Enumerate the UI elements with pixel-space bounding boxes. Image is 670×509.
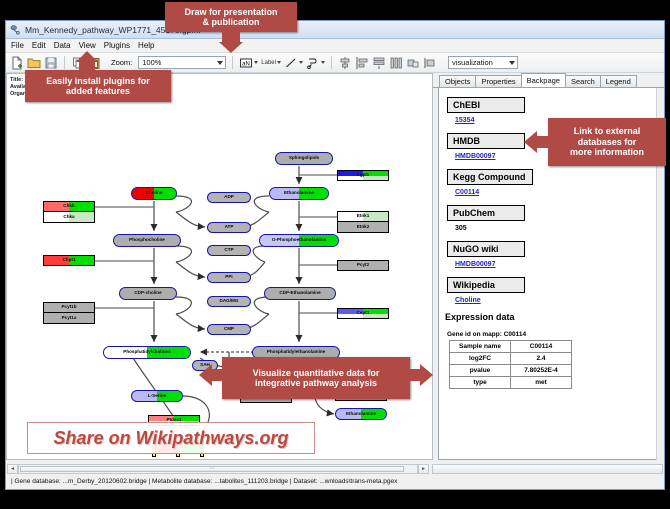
metabolite-node[interactable]: Choline <box>131 187 177 200</box>
tab-legend[interactable]: Legend <box>600 75 637 87</box>
horizontal-scrollbar[interactable]: ⋯ <box>18 464 418 474</box>
gene-id-line: Gene id on mapp: C00114 <box>447 331 661 338</box>
db-header: NuGO wiki <box>447 241 525 257</box>
db-section-nugo: NuGO wiki HMDB00097 <box>447 239 661 268</box>
callout-links: Link to external databases for more info… <box>548 118 666 166</box>
db-value: 305 <box>455 225 661 232</box>
side-panel-tabs: Objects Properties Backpage Search Legen… <box>433 73 664 88</box>
node-label: Phosphocholine <box>129 238 165 243</box>
order-icon[interactable] <box>423 56 437 70</box>
node-label: Sphingolipids <box>289 156 319 161</box>
line-tool[interactable] <box>284 56 303 70</box>
node-label: Phosphatidylethanolamine <box>267 350 325 355</box>
callout-visualize: Visualize quantitative data for integrat… <box>222 357 410 399</box>
expression-table: Sample name C00114 log2FC 2.4 pvalue 7.8… <box>449 340 572 389</box>
datanode-icon[interactable]: aN <box>239 56 253 70</box>
menu-bar: File Edit Data View Plugins Help <box>6 39 664 53</box>
align-center-icon[interactable] <box>338 56 352 70</box>
table-cell-value: met <box>511 377 572 389</box>
db-link[interactable]: Choline <box>455 297 661 304</box>
table-row: pvalue 7.80252E-4 <box>450 365 572 377</box>
gene-node[interactable]: Cept1 <box>337 308 389 319</box>
toolbar-separator-2 <box>232 56 233 69</box>
callout-plugins: Easily install plugins for added feature… <box>25 70 171 102</box>
gene-node[interactable]: Pcyt1b <box>43 302 95 313</box>
node-label: ADP <box>224 195 234 200</box>
node-label: Chpt1 <box>62 258 75 263</box>
node-label: Ethanolamine <box>346 412 376 417</box>
label-tool[interactable]: Label <box>261 60 281 66</box>
align-left-icon[interactable] <box>355 56 369 70</box>
callout-plugins-line2: added features <box>66 86 130 96</box>
chevron-down-icon[interactable] <box>254 61 258 64</box>
metabolite-node[interactable]: O-Phosphoethanolamine <box>259 234 339 247</box>
table-cell-key: log2FC <box>450 353 511 365</box>
node-label: DAG/MG <box>220 299 239 304</box>
callout-visualize-stem-left <box>212 369 224 381</box>
title-bar: Mm_Kennedy_pathway_WP1771_45176.gpml <box>6 21 664 39</box>
menu-item-view[interactable]: View <box>79 41 96 50</box>
gene-node[interactable]: Sgpl1 <box>337 170 389 181</box>
metabolite-node[interactable]: L-Serine <box>131 390 183 402</box>
menu-item-help[interactable]: Help <box>138 41 154 50</box>
new-file-icon[interactable] <box>10 56 24 70</box>
zoom-label: Zoom: <box>111 58 132 67</box>
metabolite-node[interactable]: ADP <box>207 192 251 203</box>
node-label: O-Phosphoethanolamine <box>272 238 326 243</box>
node-label: Pcyt1a <box>62 316 77 321</box>
chevron-down-icon[interactable] <box>299 61 303 64</box>
node-label: ATP <box>225 225 234 230</box>
chevron-down-icon <box>217 61 223 65</box>
node-label: CDP-Ethanolamine <box>279 291 320 296</box>
visualization-value: visualization <box>452 58 493 67</box>
pathway-canvas[interactable]: Title: Availa Organ <box>6 73 433 460</box>
menu-item-data[interactable]: Data <box>54 41 71 50</box>
callout-draw-arrow <box>219 42 243 53</box>
node-label: Ethanolamine <box>284 191 314 196</box>
save-icon[interactable] <box>44 56 58 70</box>
chevron-down-icon <box>509 61 515 65</box>
menu-item-plugins[interactable]: Plugins <box>104 41 130 50</box>
callout-visualize-stem-right <box>408 369 420 381</box>
tab-properties[interactable]: Properties <box>475 75 521 87</box>
table-cell-key: type <box>450 377 511 389</box>
metabolite-node[interactable]: ATP <box>207 222 251 233</box>
node-label: Choline <box>146 191 163 196</box>
metabolite-node[interactable]: Phosphocholine <box>113 234 181 247</box>
distribute-icon[interactable] <box>389 56 403 70</box>
tab-objects[interactable]: Objects <box>439 75 476 87</box>
node-label: CTP <box>224 248 233 253</box>
status-bar: | Gene database: ...m_Derby_20120602.bri… <box>7 475 663 488</box>
callout-visualize-arrow-left <box>199 364 212 386</box>
callout-share: Share on Wikipathways.org <box>27 422 315 454</box>
table-row: type met <box>450 377 572 389</box>
node-label: Phosphatidylcholines <box>123 350 170 355</box>
callout-plugins-line1: Easily install plugins for <box>46 76 150 86</box>
gene-node[interactable]: Chka <box>43 212 95 223</box>
callout-links-line2: databases for <box>578 137 637 147</box>
node-label: Sgpl1 <box>357 173 370 178</box>
callout-share-text: Share on Wikipathways.org <box>54 428 289 449</box>
metabolite-node[interactable]: DAG/MG <box>207 296 251 307</box>
gene-node[interactable]: Etnk2 <box>337 222 389 233</box>
table-cell-value: 7.80252E-4 <box>511 365 572 377</box>
menu-item-file[interactable]: File <box>11 41 24 50</box>
callout-draw-line1: Draw for presentation <box>184 7 277 17</box>
gene-node[interactable]: Pcyt2 <box>337 260 389 271</box>
metabolite-node[interactable]: PPi <box>207 272 251 283</box>
db-header: HMDB <box>447 133 525 149</box>
db-header: ChEBI <box>447 97 525 113</box>
side-panel-footer <box>432 464 663 474</box>
node-label: CDP-choline <box>134 291 161 296</box>
callout-plugins-arrow <box>76 51 98 62</box>
node-label: Pcyt2 <box>357 263 369 268</box>
node-label: L-Serine <box>148 394 166 399</box>
gene-node[interactable]: Etnk1 <box>337 211 389 222</box>
toolbar-separator-1 <box>64 56 65 69</box>
table-row: log2FC 2.4 <box>450 353 572 365</box>
db-header: Kegg Compound <box>447 169 533 185</box>
callout-links-arrow <box>524 131 537 153</box>
callout-visualize-line1: Visualize quantitative data for <box>253 368 380 378</box>
db-section-kegg: Kegg Compound C00114 <box>447 167 661 196</box>
callout-links-line1: Link to external <box>574 126 641 136</box>
metabolite-node[interactable]: Ethanolamine <box>269 187 329 200</box>
toolbar-separator-3 <box>331 56 332 69</box>
metabolite-node[interactable]: Ethanolamine <box>335 408 387 420</box>
db-header: Wikipedia <box>447 277 525 293</box>
gene-node[interactable]: Pcyt1a <box>43 313 95 324</box>
zoom-value: 100% <box>142 58 161 67</box>
metabolite-node[interactable]: CTP <box>207 245 251 256</box>
svg-text:aN: aN <box>242 61 250 67</box>
stack-vertical-icon[interactable] <box>372 56 386 70</box>
group-icon[interactable] <box>406 56 420 70</box>
visualization-combo[interactable]: visualization <box>448 56 518 69</box>
screenshot-root: Mm_Kennedy_pathway_WP1771_45176.gpml Fil… <box>0 0 670 509</box>
node-label: CMP <box>224 327 234 332</box>
metabolite-node[interactable]: Phosphatidylcholines <box>103 346 191 359</box>
db-link[interactable]: C00114 <box>455 189 661 196</box>
db-header: PubChem <box>447 205 525 221</box>
callout-draw-line2: & publication <box>203 17 260 27</box>
table-row: Sample name C00114 <box>450 341 572 353</box>
menu-item-edit[interactable]: Edit <box>32 41 46 50</box>
open-folder-icon[interactable] <box>27 56 41 70</box>
table-cell-key: pvalue <box>450 365 511 377</box>
callout-links-stem <box>536 136 550 148</box>
db-link[interactable]: HMDB00097 <box>455 261 661 268</box>
node-label: Chka <box>63 215 74 220</box>
callout-visualize-line2: integrative pathway analysis <box>255 378 377 388</box>
callout-draw-stem <box>222 32 240 42</box>
datanode-tool[interactable]: aN <box>239 56 258 70</box>
node-label: Etnk2 <box>357 225 370 230</box>
status-text: | Gene database: ...m_Derby_20120602.bri… <box>11 478 397 485</box>
label-tool-label: Label <box>261 60 276 66</box>
scroll-left-arrow[interactable]: ◄ <box>7 464 18 474</box>
scrollbar-row: ◄ ⋯ ► <box>7 463 663 474</box>
gene-node[interactable]: Chpt1 <box>43 255 95 266</box>
node-label: Pcyt1b <box>61 305 76 310</box>
anchor-tool[interactable] <box>306 56 325 70</box>
node-label: Chkb <box>63 204 74 209</box>
scroll-thumb[interactable]: ⋯ <box>20 466 404 472</box>
db-section-pubchem: PubChem 305 <box>447 203 661 232</box>
metabolite-node[interactable]: CDP-Ethanolamine <box>264 287 336 300</box>
node-label: Etnk1 <box>357 214 370 219</box>
db-section-wikipedia: Wikipedia Choline <box>447 275 661 304</box>
scroll-right-arrow[interactable]: ► <box>418 464 429 474</box>
callout-visualize-arrow-right <box>420 364 433 386</box>
tab-search[interactable]: Search <box>565 75 601 87</box>
metabolite-node[interactable]: Sphingolipids <box>275 152 333 165</box>
tab-backpage[interactable]: Backpage <box>521 73 566 87</box>
metabolite-node[interactable]: CDP-choline <box>119 287 177 300</box>
table-cell-key: Sample name <box>450 341 511 353</box>
expression-data-title: Expression data <box>445 312 661 322</box>
callout-draw: Draw for presentation & publication <box>165 2 297 32</box>
node-label: Cept1 <box>357 311 370 316</box>
table-cell-value: C00114 <box>511 341 572 353</box>
pathvisio-icon <box>10 24 21 35</box>
chevron-down-icon[interactable] <box>277 61 281 64</box>
callout-links-line3: more information <box>570 147 644 157</box>
zoom-combo[interactable]: 100% <box>138 56 226 69</box>
gene-node[interactable]: Chkb <box>43 201 95 212</box>
chevron-down-icon[interactable] <box>321 61 325 64</box>
node-label: PPi <box>225 275 232 280</box>
table-cell-value: 2.4 <box>511 353 572 365</box>
line-icon[interactable] <box>284 56 298 70</box>
callout-plugins-stem <box>79 62 95 71</box>
metabolite-node[interactable]: CMP <box>207 324 251 335</box>
anchor-icon[interactable] <box>306 56 320 70</box>
